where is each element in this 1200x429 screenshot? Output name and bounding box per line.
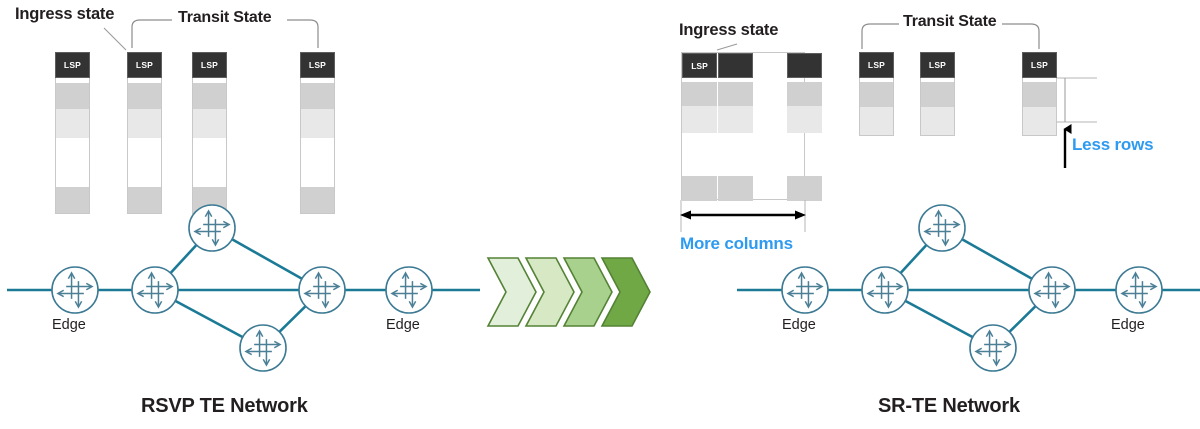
left-transit-column-3: LSP (300, 52, 335, 214)
right-transit-bracket-right (1002, 24, 1039, 49)
state-row (1023, 82, 1056, 107)
state-rows (859, 78, 894, 136)
state-row (860, 82, 893, 107)
lsp-header: LSP (55, 52, 90, 78)
topology-link (904, 300, 973, 337)
state-row (193, 138, 226, 187)
chevron-transition (488, 258, 650, 326)
router-circle (1029, 267, 1075, 313)
state-row (301, 138, 334, 187)
state-cell (718, 176, 753, 201)
router-circle (862, 267, 908, 313)
right-transit-column-2: LSP (920, 52, 955, 136)
state-row (56, 109, 89, 138)
left-transit-bracket-right (287, 20, 318, 48)
router-icon (240, 325, 286, 371)
lsp-header-blank (718, 53, 753, 78)
left-transit-column-2: LSP (192, 52, 227, 214)
right-ingress-state-label: Ingress state (679, 22, 778, 39)
router-icon (52, 267, 98, 313)
state-cell (682, 106, 717, 133)
right-edge-label-right: Edge (1111, 318, 1145, 333)
left-network-topology (7, 205, 480, 371)
chevron-arrow (488, 258, 536, 326)
state-cell (682, 176, 717, 201)
router-circle (240, 325, 286, 371)
state-cell (682, 82, 717, 106)
lsp-header: LSP (859, 52, 894, 78)
state-cell (718, 82, 753, 106)
state-cell (718, 106, 753, 133)
topology-link (174, 300, 243, 337)
ingress-state-block: LSP (681, 52, 805, 200)
router-icon (970, 325, 1016, 371)
left-transit-state-label: Transit State (178, 10, 271, 26)
state-rows (127, 78, 162, 214)
state-cell (787, 106, 822, 133)
right-transit-state-label: Transit State (903, 14, 996, 30)
router-circle (970, 325, 1016, 371)
state-row (860, 107, 893, 136)
right-transit-bracket-left (862, 24, 899, 49)
router-icon (189, 205, 235, 251)
state-rows (55, 78, 90, 214)
left-edge-label-right: Edge (386, 318, 420, 333)
lsp-header-blank (787, 53, 822, 78)
topology-link (170, 244, 197, 274)
state-row (128, 109, 161, 138)
state-row (193, 83, 226, 109)
state-row (128, 138, 161, 187)
less-rows-label: Less rows (1072, 136, 1153, 153)
right-edge-label-left: Edge (782, 318, 816, 333)
router-icon (919, 205, 965, 251)
state-row (56, 83, 89, 109)
state-row (128, 83, 161, 109)
right-transit-column-1: LSP (859, 52, 894, 136)
lsp-header: LSP (300, 52, 335, 78)
right-ingress-leader-line (717, 44, 737, 50)
state-cell (787, 82, 822, 106)
right-transit-column-3: LSP (1022, 52, 1057, 136)
topology-link (1009, 305, 1037, 332)
router-icon (386, 267, 432, 313)
router-icon (132, 267, 178, 313)
router-circle (132, 267, 178, 313)
lsp-header: LSP (192, 52, 227, 78)
topology-link (231, 239, 303, 279)
diagram-canvas: Ingress state Transit State LSPLSPLSPLSP… (0, 0, 1200, 429)
left-edge-label-left: Edge (52, 318, 86, 333)
state-rows (192, 78, 227, 214)
router-icon (1116, 267, 1162, 313)
router-icon (782, 267, 828, 313)
lsp-header: LSP (682, 53, 717, 78)
right-network-topology (737, 205, 1200, 371)
right-network-title: SR-TE Network (878, 396, 1020, 416)
router-circle (189, 205, 235, 251)
state-row (56, 138, 89, 187)
router-icon (1029, 267, 1075, 313)
more-columns-label: More columns (680, 235, 793, 252)
router-circle (782, 267, 828, 313)
topology-link (900, 244, 927, 274)
state-rows (1022, 78, 1057, 136)
topology-link (279, 305, 307, 332)
router-circle (52, 267, 98, 313)
router-circle (919, 205, 965, 251)
router-circle (299, 267, 345, 313)
router-circle (1116, 267, 1162, 313)
router-circle (386, 267, 432, 313)
left-ingress-leader-line (104, 28, 126, 50)
state-row (56, 187, 89, 214)
lsp-header: LSP (920, 52, 955, 78)
state-row (921, 82, 954, 107)
left-network-title: RSVP TE Network (141, 396, 308, 416)
state-row (1023, 107, 1056, 136)
state-row (301, 109, 334, 138)
topology-link (961, 239, 1033, 279)
state-row (193, 109, 226, 138)
state-row (921, 107, 954, 136)
state-row (301, 83, 334, 109)
left-ingress-column: LSP (55, 52, 90, 214)
left-transit-bracket-left (132, 20, 172, 48)
state-rows (300, 78, 335, 214)
state-row (301, 187, 334, 214)
state-cell (787, 176, 822, 201)
left-transit-column-1: LSP (127, 52, 162, 214)
state-rows (920, 78, 955, 136)
router-icon (862, 267, 908, 313)
lsp-header: LSP (127, 52, 162, 78)
state-row (128, 187, 161, 214)
router-icon (299, 267, 345, 313)
lsp-header: LSP (1022, 52, 1057, 78)
left-ingress-state-label: Ingress state (15, 6, 114, 23)
